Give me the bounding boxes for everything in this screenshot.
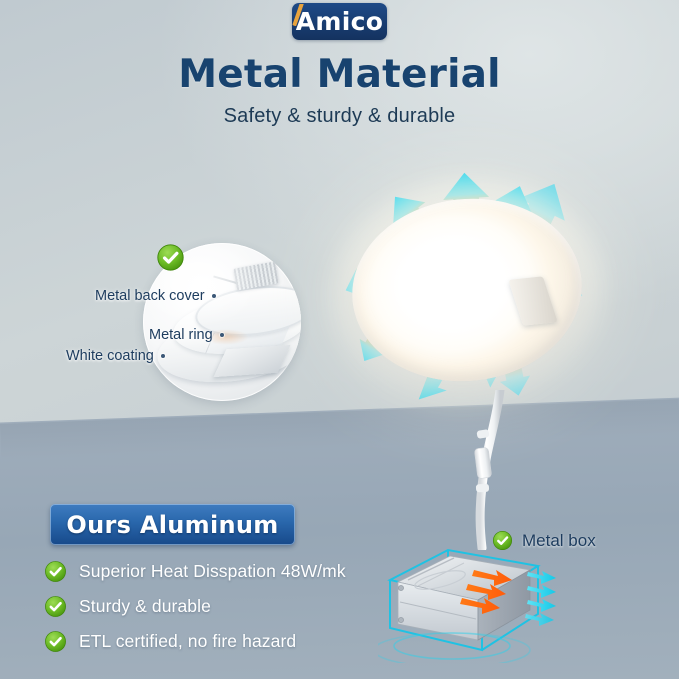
page-title: Metal Material xyxy=(0,52,679,97)
green-check-icon xyxy=(44,560,67,583)
feature-label: Sturdy & durable xyxy=(79,596,211,617)
infographic-canvas: Amico Metal Material Safety & sturdy & d… xyxy=(0,0,679,679)
inset-label-metal-back-cover: Metal back cover xyxy=(95,288,216,304)
box-body xyxy=(398,556,530,640)
inset-label-text: Metal back cover xyxy=(95,288,205,304)
ours-aluminum-label: Ours Aluminum xyxy=(66,511,278,539)
brand-logo-text: Amico xyxy=(296,9,383,34)
page-subtitle: Safety & sturdy & durable xyxy=(0,105,679,128)
leader-dot-icon xyxy=(212,294,216,298)
green-check-icon xyxy=(44,630,67,653)
feature-label: ETL certified, no fire hazard xyxy=(79,631,296,652)
inset-label-text: White coating xyxy=(66,348,154,364)
panel-base-plate xyxy=(213,345,290,377)
metal-box-callout-label: Metal box xyxy=(522,531,596,551)
leader-dot-icon xyxy=(220,333,224,337)
led-panel-light-group xyxy=(330,175,630,425)
inset-label-metal-ring: Metal ring xyxy=(149,327,224,343)
power-cable xyxy=(470,390,510,550)
green-check-icon xyxy=(44,595,67,618)
metal-box-callout: Metal box xyxy=(492,530,596,551)
leader-dot-icon xyxy=(161,354,165,358)
green-check-icon xyxy=(492,530,513,551)
inset-green-check-icon xyxy=(156,243,185,272)
ours-aluminum-badge: Ours Aluminum xyxy=(50,504,295,545)
inset-label-white-coating: White coating xyxy=(66,348,165,364)
ground-ripples xyxy=(378,633,530,663)
inset-label-text: Metal ring xyxy=(149,327,213,343)
brand-logo: Amico xyxy=(292,3,387,40)
feature-label: Superior Heat Disspation 48W/mk xyxy=(79,561,346,582)
